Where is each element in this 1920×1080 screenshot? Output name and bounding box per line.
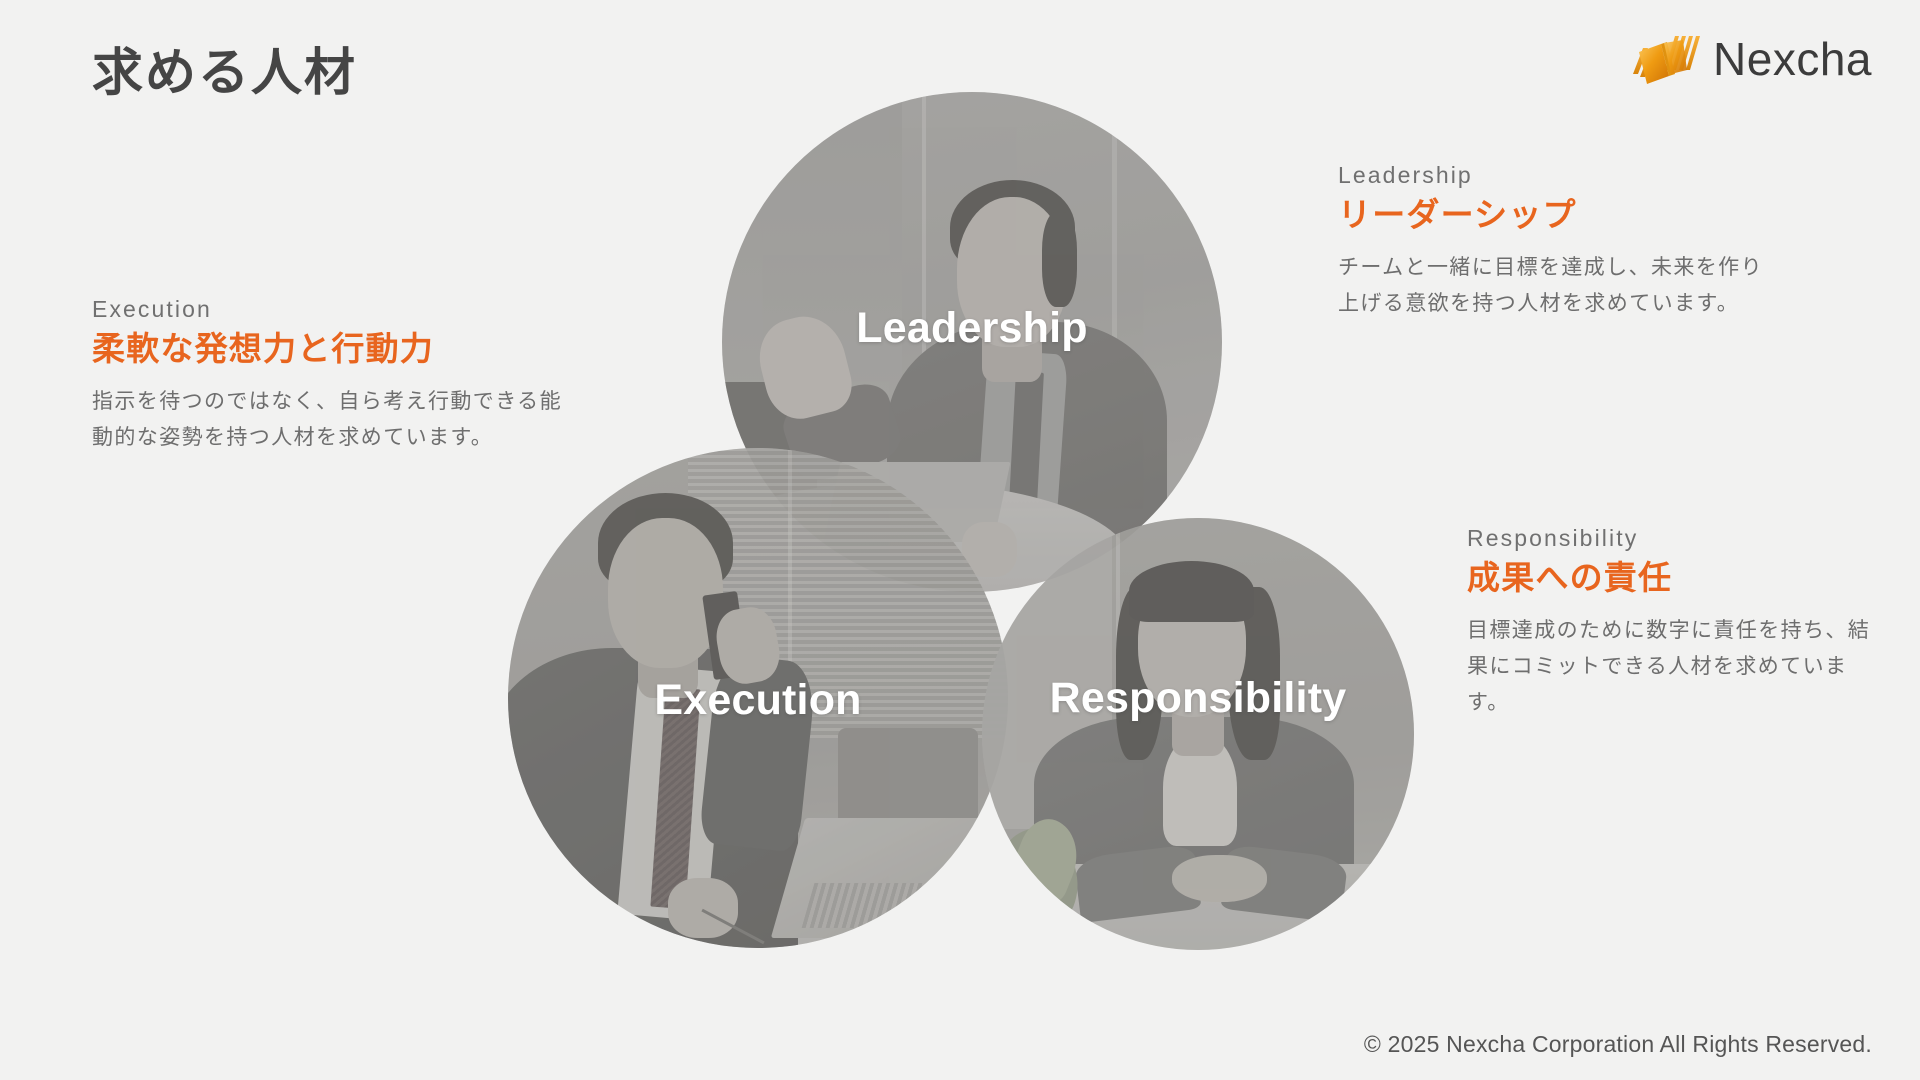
responsibility-headline: 成果への責任 — [1467, 557, 1887, 600]
responsibility-photo — [982, 518, 1414, 950]
responsibility-body: 目標達成のために数字に責任を持ち、結果にコミットできる人材を求めています。 — [1467, 613, 1887, 721]
circle-caption-responsibility: Responsibility — [982, 674, 1414, 723]
nexcha-logo-icon — [1631, 30, 1703, 88]
brand-logo[interactable]: Nexcha — [1631, 28, 1872, 90]
page-title: 求める人材 — [92, 42, 357, 103]
text-block-execution: Execution 柔軟な発想力と行動力 指示を待つのではなく、自ら考え行動でき… — [92, 294, 572, 456]
logo-wordmark: Nexcha — [1713, 36, 1872, 82]
leadership-eyebrow: Leadership — [1338, 160, 1768, 191]
text-block-responsibility: Responsibility 成果への責任 目標達成のために数字に責任を持ち、結… — [1467, 523, 1887, 721]
text-block-leadership: Leadership リーダーシップ チームと一緒に目標を達成し、未来を作り上げ… — [1338, 160, 1768, 322]
execution-body: 指示を待つのではなく、自ら考え行動できる能動的な姿勢を持つ人材を求めています。 — [92, 384, 572, 456]
execution-headline: 柔軟な発想力と行動力 — [92, 328, 572, 371]
circle-caption-execution: Execution — [508, 676, 1008, 725]
responsibility-overlay — [982, 518, 1414, 950]
slide-canvas: 求める人材 — [0, 0, 1920, 1080]
circle-execution[interactable]: Execution — [508, 448, 1008, 948]
leadership-headline: リーダーシップ — [1338, 194, 1768, 237]
execution-eyebrow: Execution — [92, 294, 572, 325]
circle-caption-leadership: Leadership — [722, 304, 1222, 353]
leadership-body: チームと一緒に目標を達成し、未来を作り上げる意欲を持つ人材を求めています。 — [1338, 250, 1768, 322]
footer-copyright: © 2025 Nexcha Corporation All Rights Res… — [1364, 1031, 1872, 1058]
responsibility-eyebrow: Responsibility — [1467, 523, 1887, 554]
circle-responsibility[interactable]: Responsibility — [982, 518, 1414, 950]
